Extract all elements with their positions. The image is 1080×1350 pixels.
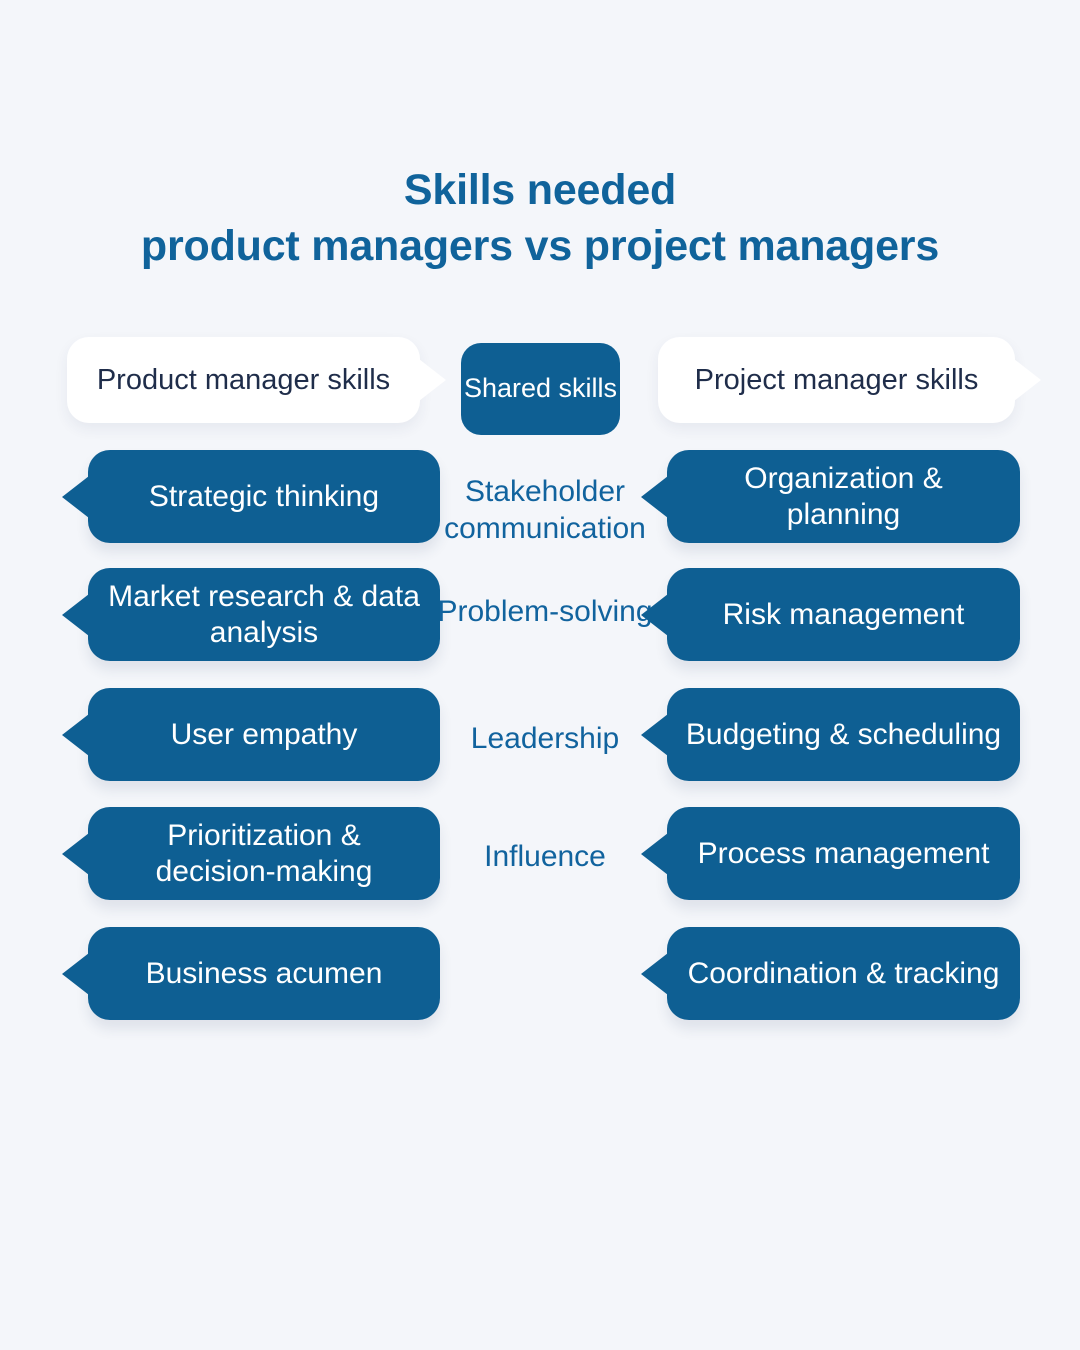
bubble-tail-left-icon [641, 476, 668, 518]
skill-pill-label: Risk management [723, 597, 965, 633]
bubble-tail-left-icon [641, 833, 668, 875]
title-line-1: Skills needed [0, 163, 1080, 219]
skill-pill-label: Market research & data analysis [106, 579, 422, 651]
bubble-tail-left-icon [641, 953, 668, 995]
skill-pill-project-1[interactable]: Organization & planning [667, 450, 1020, 543]
skill-pill-product-4[interactable]: Prioritization & decision-making [88, 807, 440, 900]
bubble-tail-left-icon [62, 833, 89, 875]
skill-pill-product-5[interactable]: Business acumen [88, 927, 440, 1020]
skill-pill-label: Prioritization & decision-making [106, 818, 422, 890]
skill-pill-project-5[interactable]: Coordination & tracking [667, 927, 1020, 1020]
bubble-tail-right-icon [1014, 359, 1041, 401]
shared-skill-label: Problem-solving [437, 595, 652, 628]
skill-pill-label: Coordination & tracking [688, 956, 1000, 992]
column-header-product-manager-label: Product manager skills [97, 363, 390, 397]
column-header-shared-skills-label: Shared skills [464, 373, 617, 405]
bubble-tail-right-icon [419, 359, 446, 401]
skill-pill-product-3[interactable]: User empathy [88, 688, 440, 781]
shared-skill-2: Problem-solving [430, 594, 660, 631]
skill-pill-product-1[interactable]: Strategic thinking [88, 450, 440, 543]
column-header-project-manager-label: Project manager skills [695, 363, 979, 397]
shared-skill-4: Influence [430, 839, 660, 876]
bubble-tail-left-icon [641, 594, 668, 636]
skill-pill-product-2[interactable]: Market research & data analysis [88, 568, 440, 661]
bubble-tail-left-icon [62, 714, 89, 756]
infographic-canvas: Skills needed product managers vs projec… [0, 0, 1080, 1350]
skill-pill-label: Business acumen [146, 956, 383, 992]
bubble-tail-left-icon [62, 594, 89, 636]
bubble-tail-left-icon [641, 714, 668, 756]
skill-pill-label: User empathy [171, 717, 358, 753]
bubble-tail-left-icon [62, 476, 89, 518]
skill-pill-project-2[interactable]: Risk management [667, 568, 1020, 661]
skill-pill-label: Process management [698, 836, 990, 872]
skill-pill-project-3[interactable]: Budgeting & scheduling [667, 688, 1020, 781]
title-line-2: product managers vs project managers [0, 219, 1080, 275]
bubble-tail-left-icon [62, 953, 89, 995]
skill-pill-label: Strategic thinking [149, 479, 379, 515]
shared-skill-label: Leadership [471, 722, 619, 755]
shared-skill-3: Leadership [430, 721, 660, 758]
column-header-shared-skills: Shared skills [461, 343, 620, 435]
shared-skill-label: Stakeholder communication [444, 475, 646, 545]
column-header-project-manager: Project manager skills [658, 337, 1015, 423]
skill-pill-label: Organization & planning [685, 461, 1002, 533]
shared-skill-1: Stakeholder communication [430, 474, 660, 547]
column-header-product-manager: Product manager skills [67, 337, 420, 423]
skill-pill-label: Budgeting & scheduling [686, 717, 1001, 753]
shared-skill-label: Influence [484, 840, 606, 873]
page-title: Skills needed product managers vs projec… [0, 163, 1080, 275]
skill-pill-project-4[interactable]: Process management [667, 807, 1020, 900]
